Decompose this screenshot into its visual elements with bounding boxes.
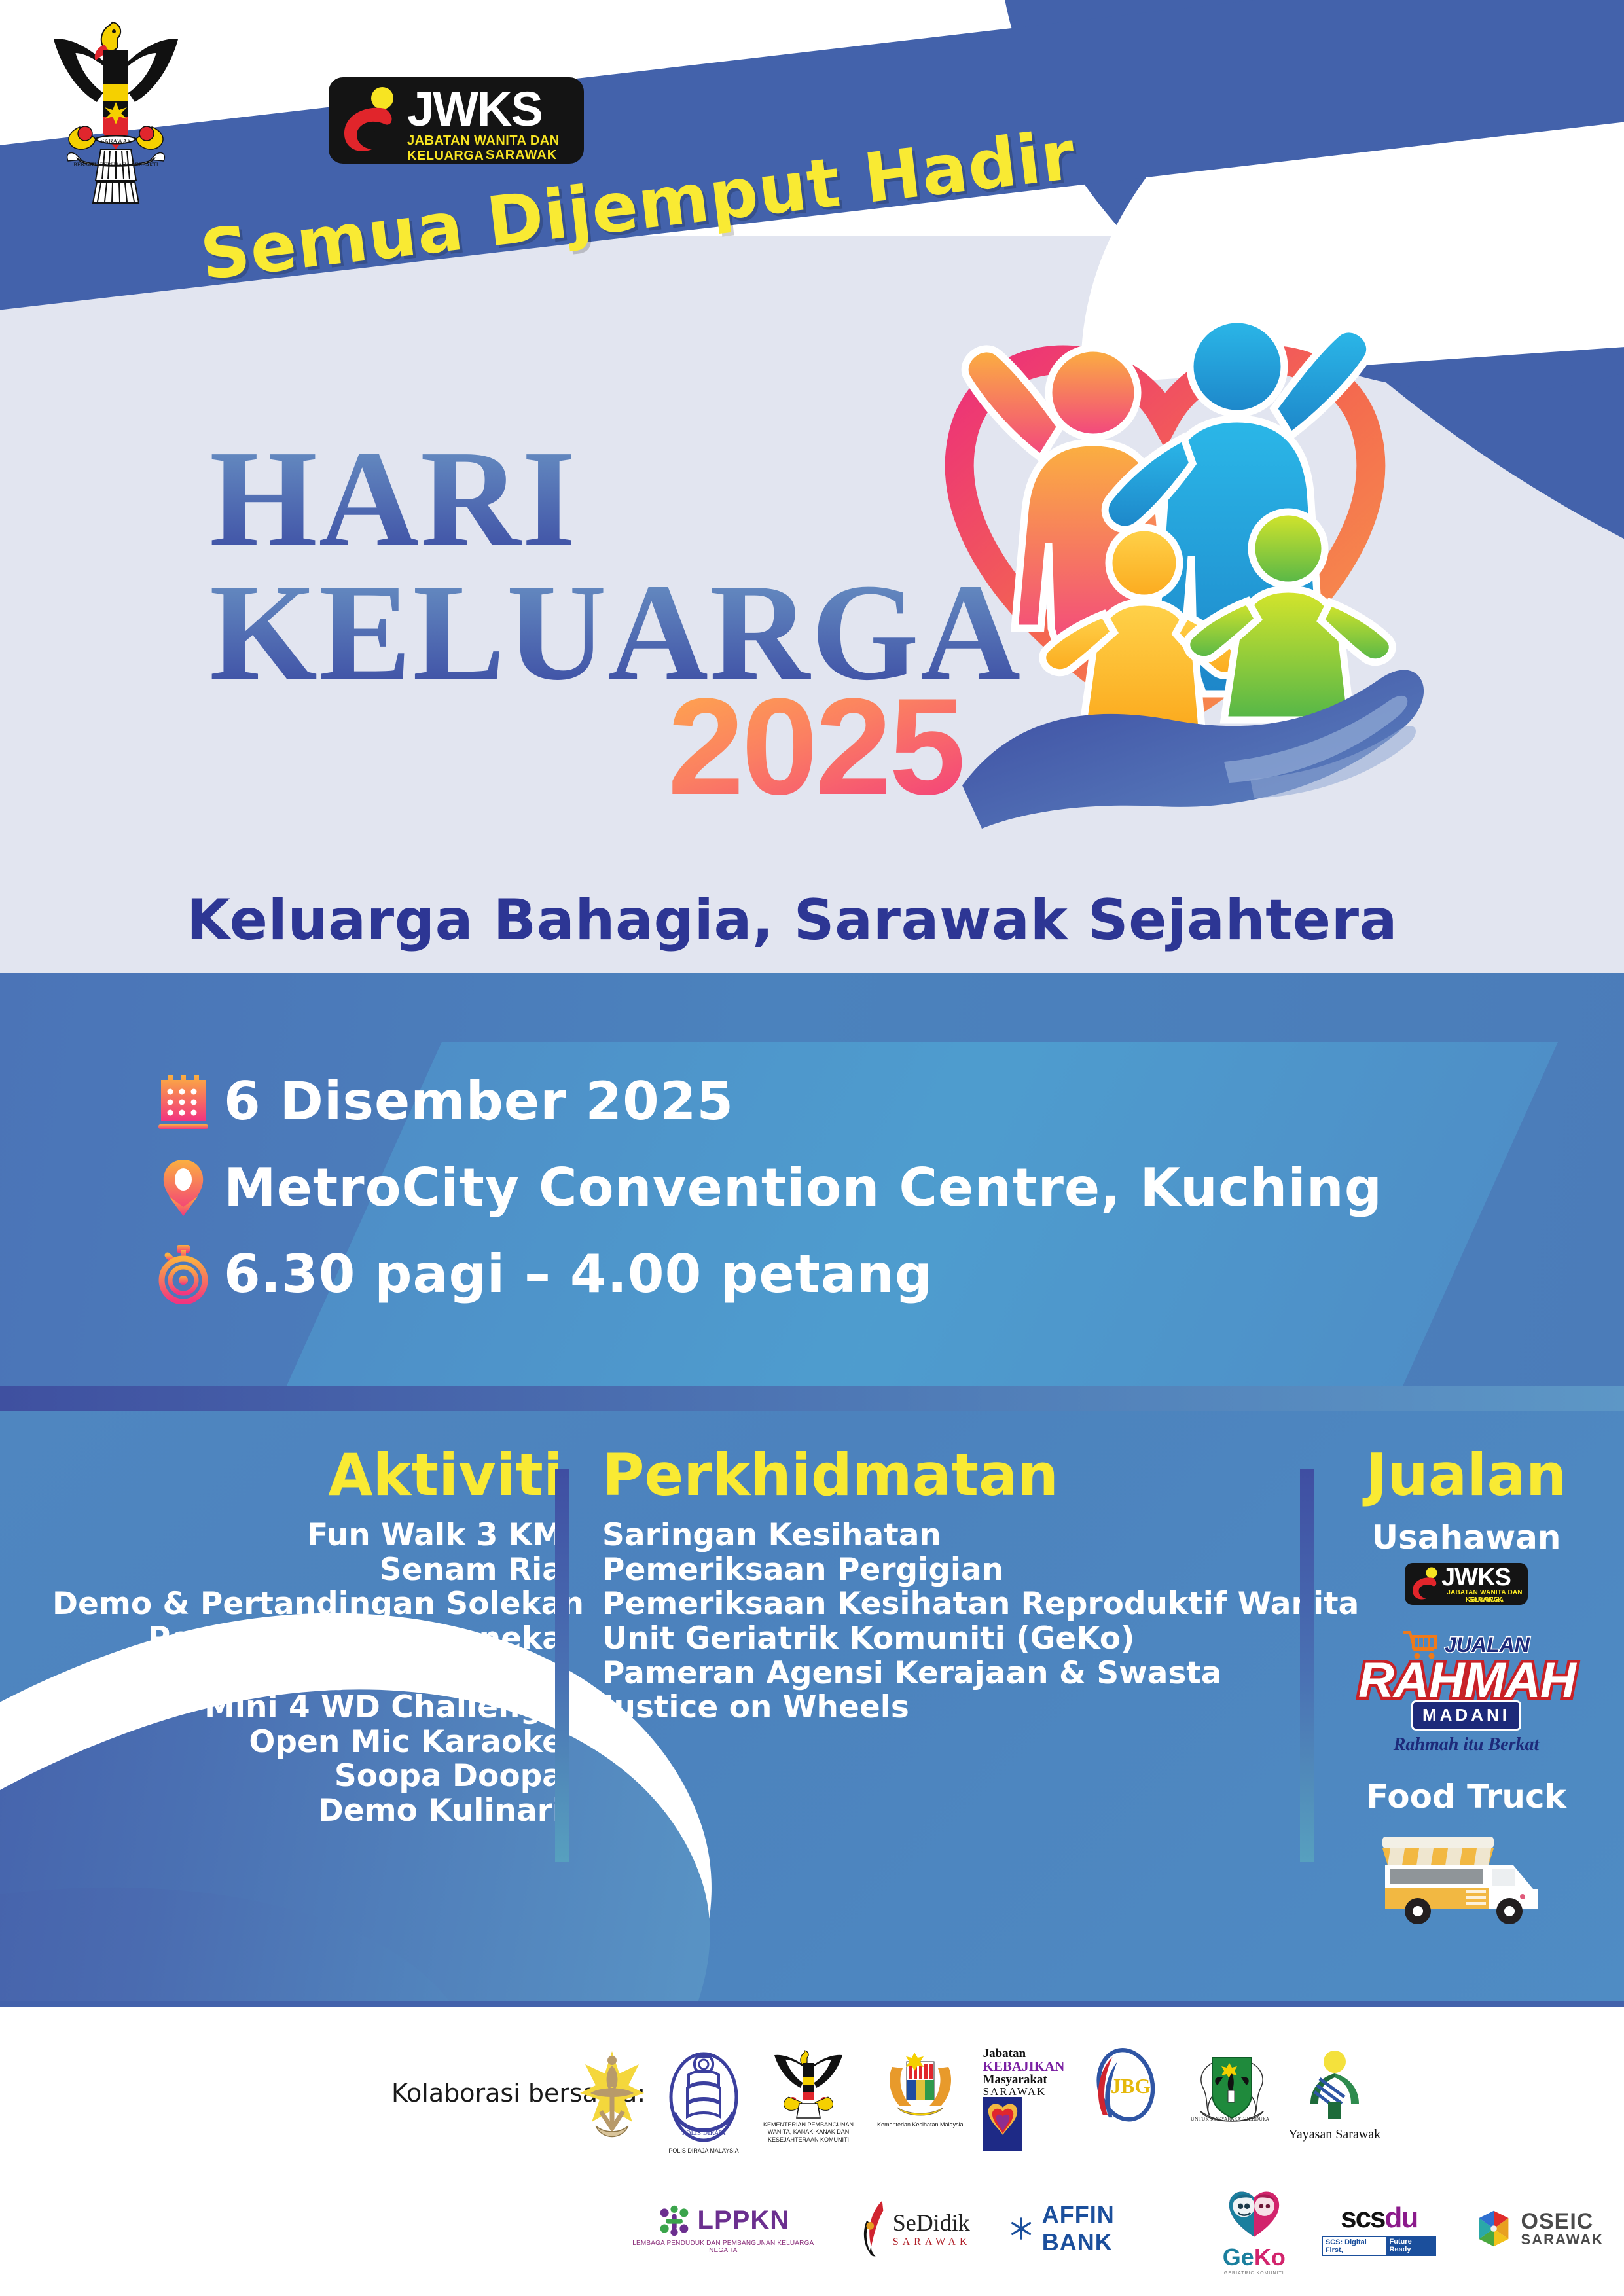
jabatan-kebajikan-masyarakat-sarawak-logo: Jabatan KEBAJIKAN Masyarakat SARAWAK xyxy=(983,2047,1066,2098)
sales-heading: Jualan xyxy=(1335,1446,1597,1504)
kebajikan-line2: KEBAJIKAN xyxy=(983,2060,1065,2073)
logo-caption: POLIS DIRAJA MALAYSIA xyxy=(668,2147,738,2155)
jwks-wordmark: JWKS xyxy=(1441,1564,1511,1592)
list-item: Demo Kulinari xyxy=(52,1794,563,1829)
svg-text:POLIS DIRAJA: POLIS DIRAJA xyxy=(682,2130,726,2137)
kementerian-pembangunan-wanita-logo: KEMENTERIAN PEMBANGUNAN WANITA, KANAK-KA… xyxy=(759,2047,857,2144)
svg-text:JBG: JBG xyxy=(1111,2075,1151,2098)
kebajikan-wordmark: Jabatan KEBAJIKAN Masyarakat SARAWAK xyxy=(983,2047,1066,2097)
geko-word-part1: Ge xyxy=(1223,2244,1254,2270)
sarawak-coat-of-arms-icon: SARAWAK BERSATU BERUSAHA BERBAKTI xyxy=(41,12,191,208)
column-divider-2 xyxy=(1300,1469,1314,1862)
logo-caption: GERIATRIC KOMUNITI xyxy=(1224,2271,1284,2276)
sedidik-sarawak-logo: SeDidik SARAWAK xyxy=(861,2198,971,2259)
lppkn-row: LPPKN xyxy=(657,2203,790,2237)
jwks-badge-logo: JWKS JABATAN WANITA DAN KELUARGA SARAWAK xyxy=(1405,1563,1528,1605)
collaborator-logos-row-1: POLIS DIRAJA POLIS DIRAJA MALAYSIA xyxy=(576,2047,1597,2159)
oseic-word-line1: OSEIC xyxy=(1521,2210,1604,2233)
poster-root: SARAWAK BERSATU BERUSAHA BERBAKTI xyxy=(0,0,1624,2296)
list-item: Mini 4 WD Challenge xyxy=(52,1691,563,1725)
list-item: Pemeriksaan Pergigian xyxy=(602,1553,1296,1588)
lppkn-mark-icon xyxy=(657,2203,691,2237)
oseic-row: OSEIC SARAWAK xyxy=(1473,2208,1604,2250)
jwks-swirl-icon xyxy=(1409,1567,1443,1601)
geko-mark-icon xyxy=(1224,2182,1284,2242)
affin-mark-icon xyxy=(1008,2215,1034,2242)
list-item: Open Mic Karaoke xyxy=(52,1725,563,1760)
activities-heading: Aktiviti xyxy=(52,1446,563,1504)
usahawan-label: Usahawan xyxy=(1335,1518,1597,1556)
jwks-logo: JWKS JABATAN WANITA DAN KELUARGA SARAWAK xyxy=(329,77,584,164)
sedidik-mark-icon xyxy=(861,2198,888,2259)
scsdu-tagline-part1: SCS: Digital First, xyxy=(1322,2236,1387,2256)
column-services: Perkhidmatan Saringan Kesihatan Pemeriks… xyxy=(602,1446,1296,1725)
list-item: Demo & Pertandingan Solekan xyxy=(52,1587,563,1622)
oseic-wordmark: OSEIC SARAWAK xyxy=(1521,2210,1604,2247)
scsdu-tagline: SCS: Digital First, Future Ready xyxy=(1322,2236,1436,2256)
logo-caption: KEMENTERIAN PEMBANGUNAN WANITA, KANAK-KA… xyxy=(759,2121,857,2144)
kebajikan-line4: SARAWAK xyxy=(983,2086,1065,2097)
title-line-1: HARI xyxy=(209,432,1022,565)
collaborator-logos-row-2: LPPKN LEMBAGA PENDUDUK DAN PEMBANGUNAN K… xyxy=(622,2179,1604,2278)
jwks-wordmark: JWKS xyxy=(407,81,542,137)
jbg-logo: JBG xyxy=(1085,2047,1164,2126)
logo-caption: LEMBAGA PENDUDUK DAN PEMBANGUNAN KELUARG… xyxy=(622,2240,825,2254)
affin-bank-logo: AFFIN BANK xyxy=(1008,2201,1186,2256)
sedidik-row: SeDidik SARAWAK xyxy=(861,2198,971,2259)
list-item: Unit Geriatrik Komuniti (GeKo) xyxy=(602,1622,1296,1657)
geko-wordmark: GeKo xyxy=(1223,2244,1286,2271)
lppkn-wordmark: LPPKN xyxy=(698,2206,790,2235)
services-list: Saringan Kesihatan Pemeriksaan Pergigian… xyxy=(602,1518,1296,1725)
logo-caption: Yayasan Sarawak xyxy=(1288,2127,1380,2142)
detail-row-time: 6.30 pagi – 4.00 petang xyxy=(156,1238,1382,1309)
sedidik-subtitle: SARAWAK xyxy=(893,2236,971,2248)
list-item: Pameran Agensi Kerajaan & Swasta xyxy=(602,1657,1296,1691)
jualan-rahmah-madani-logo: JUALAN RAHMAH MADANI Rahmah itu Berkat xyxy=(1358,1630,1574,1755)
location-pin-icon xyxy=(156,1157,211,1217)
svg-text:BERSATU BERUSAHA BERBAKTI: BERSATU BERUSAHA BERBAKTI xyxy=(73,162,158,168)
affin-wordmark: AFFIN BANK xyxy=(1042,2201,1186,2256)
detail-text-venue: MetroCity Convention Centre, Kuching xyxy=(224,1157,1382,1218)
geko-logo: GeKo GERIATRIC KOMUNITI xyxy=(1223,2182,1286,2276)
list-item: Pemeriksaan Kesihatan Reproduktif Wanita xyxy=(602,1587,1296,1622)
column-divider-1 xyxy=(555,1469,569,1862)
list-item: Soopa Doopa xyxy=(52,1759,563,1794)
activities-list: Fun Walk 3 KM Senam Ria Demo & Pertandin… xyxy=(52,1518,563,1829)
rahmah-slogan: Rahmah itu Berkat xyxy=(1358,1734,1574,1755)
jabatan-bomba-logo: UNTUK MASYARAKAT BERDUKAN xyxy=(1183,2047,1269,2132)
detail-row-date: 6 Disember 2025 xyxy=(156,1066,1382,1136)
svg-text:UNTUK MASYARAKAT BERDUKAN: UNTUK MASYARAKAT BERDUKAN xyxy=(1191,2117,1269,2122)
detail-row-venue: MetroCity Convention Centre, Kuching xyxy=(156,1152,1382,1223)
event-details: 6 Disember 2025 MetroCity Convention Cen… xyxy=(156,1066,1382,1325)
jwks-swirl-icon xyxy=(338,86,406,154)
angkatan-tentera-malaysia-logo xyxy=(576,2047,648,2145)
jwks-subtitle-line2: SARAWAK xyxy=(486,148,557,163)
list-item: Pertandingan Sukaneka xyxy=(52,1622,563,1657)
svg-text:SARAWAK: SARAWAK xyxy=(100,139,132,145)
event-tagline: Keluarga Bahagia, Sarawak Sejahtera xyxy=(187,888,1398,953)
food-truck-icon xyxy=(1335,1825,1597,1933)
oseic-sarawak-logo: OSEIC SARAWAK xyxy=(1473,2208,1604,2250)
food-truck-label: Food Truck xyxy=(1335,1778,1597,1816)
list-item: Justice on Wheels xyxy=(602,1691,1296,1725)
detail-text-time: 6.30 pagi – 4.00 petang xyxy=(224,1244,933,1304)
list-item: Senam Ria xyxy=(52,1553,563,1588)
stopwatch-icon xyxy=(156,1244,211,1304)
page-title: HARI KELUARGA xyxy=(209,432,1022,698)
column-sales: Jualan Usahawan JWKS JABATAN WANITA DAN … xyxy=(1335,1446,1597,1933)
affin-row: AFFIN BANK xyxy=(1008,2201,1186,2256)
rahmah-madani-word: MADANI xyxy=(1411,1700,1521,1731)
column-activities: Aktiviti Fun Walk 3 KM Senam Ria Demo & … xyxy=(52,1446,563,1829)
scsdu-tagline-part2: Future Ready xyxy=(1386,2236,1435,2256)
sedidik-wordmark: SeDidik xyxy=(893,2209,971,2236)
detail-text-date: 6 Disember 2025 xyxy=(224,1071,734,1132)
scsdu-word-part2: du xyxy=(1385,2202,1418,2234)
list-item: Saringan Kesihatan xyxy=(602,1518,1296,1553)
title-line-2: KELUARGA xyxy=(209,565,1022,699)
kebajikan-heart-icon xyxy=(983,2097,1022,2151)
geko-word-part2: Ko xyxy=(1254,2244,1286,2270)
scsdu-wordmark: scsdu xyxy=(1341,2202,1417,2234)
lppkn-logo: LPPKN LEMBAGA PENDUDUK DAN PEMBANGUNAN K… xyxy=(622,2203,825,2254)
yayasan-sarawak-logo: Yayasan Sarawak xyxy=(1288,2047,1380,2142)
polis-diraja-malaysia-logo: POLIS DIRAJA POLIS DIRAJA MALAYSIA xyxy=(668,2047,740,2155)
oseic-puzzle-icon xyxy=(1473,2208,1515,2250)
rahmah-main-word: RAHMAH xyxy=(1358,1657,1574,1704)
oseic-word-line2: SARAWAK xyxy=(1521,2233,1604,2247)
kebajikan-line3: Masyarakat xyxy=(983,2073,1065,2086)
list-item: Fun Walk 3 KM xyxy=(52,1518,563,1553)
scsdu-word-part1: scs xyxy=(1341,2202,1384,2234)
services-heading: Perkhidmatan xyxy=(602,1446,1296,1504)
list-item: Pertandingan Mewarna xyxy=(52,1657,563,1691)
logo-caption: Kementerian Kesihatan Malaysia xyxy=(877,2121,964,2128)
calendar-icon xyxy=(156,1071,211,1131)
jwks-subtitle-line2: SARAWAK xyxy=(1469,1596,1502,1604)
kementerian-kesihatan-malaysia-logo: Kementerian Kesihatan Malaysia xyxy=(877,2047,964,2128)
scsdu-logo: scsdu SCS: Digital First, Future Ready xyxy=(1322,2202,1436,2256)
